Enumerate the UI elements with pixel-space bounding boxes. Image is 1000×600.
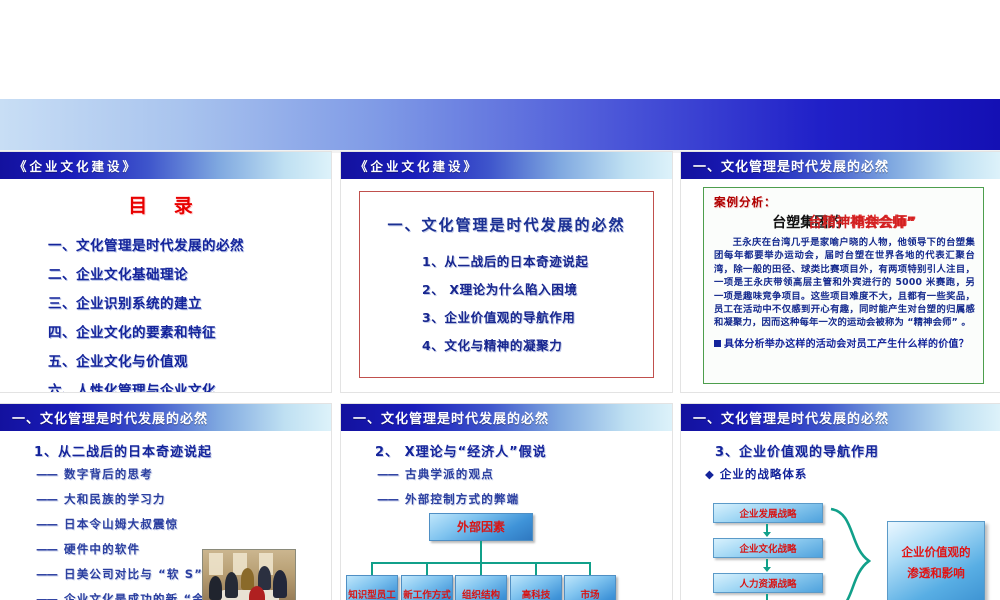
list-item: 一、文化管理是时代发展的必然 [48,234,331,254]
list-item: 4、文化与精神的凝聚力 [422,335,653,354]
slide-4-header-title: 一、文化管理是时代发展的必然 [0,408,208,427]
list-item: ——大和民族的学习力 [36,491,331,507]
slide-thumbnail-grid: 《企业文化建设》 目 录 一、文化管理是时代发展的必然 二、企业文化基础理论 三… [0,0,1000,600]
dash-prefix: —— [377,467,398,481]
list-item: 1、从二战后的日本奇迹说起 [422,251,653,270]
connector-vertical [480,541,482,563]
connector-branch [535,562,537,575]
dash-prefix: —— [377,492,398,506]
curly-brace-icon [829,507,871,600]
diagram-root-node: 外部因素 [429,513,533,541]
connector-branch [371,562,373,575]
dash-prefix: —— [36,567,57,581]
slide-5-body: 2、 X理论与“经济人”假说 ——古典学派的观点 ——外部控制方式的弊端 外部因… [341,431,672,600]
slide-3[interactable]: 一、文化管理是时代发展的必然 案例分析： 台塑集团的“精神会师” 台精神神会会师… [681,152,1000,392]
slide-1-header-title: 《企业文化建设》 [0,156,138,175]
section-title: 1、从二战后的日本奇迹说起 [34,441,331,460]
case-question-text: 具体分析举办这样的活动会对员工产生什么样的价值？ [724,339,969,350]
strategy-node: 企业文化战略 [713,538,823,558]
photo-person [273,570,287,598]
meeting-photo [202,549,296,600]
list-item: ——外部控制方式的弊端 [377,491,672,507]
list-item: ——古典学派的观点 [377,466,672,482]
slide-3-body: 案例分析： 台塑集团的“精神会师” 台精神神会会师” 王永庆在台湾几乎是家喻户晓… [681,179,1000,392]
list-item-label: 日本令山姆大叔震惊 [64,517,178,531]
strategy-system-diagram: 企业发展战略 企业文化战略 人力资源战略 企业管理战略 企业价值观的 渗透和影响 [681,503,1000,600]
photo-window [209,553,223,575]
section-title: 2、 X理论与“经济人”假说 [375,441,672,460]
dash-prefix: —— [36,517,57,531]
diagram-node: 高科技 [510,575,562,600]
list-item: ——数字背后的思考 [36,466,331,482]
slide-2-header-title: 《企业文化建设》 [341,156,479,175]
outcome-line-1: 企业价值观的 [902,544,971,560]
dash-prefix: —— [36,467,57,481]
photo-person [225,572,238,598]
dash-prefix: —— [36,542,57,556]
case-study-box: 案例分析： 台塑集团的“精神会师” 台精神神会会师” 王永庆在台湾几乎是家喻户晓… [703,187,984,384]
list-item: ——日本令山姆大叔震惊 [36,516,331,532]
strategy-node: 企业发展战略 [713,503,823,523]
arrow-down-icon [766,594,768,600]
list-item-label: 硬件中的软件 [64,542,140,556]
list-item-label: 古典学派的观点 [405,467,494,481]
value-outcome-box: 企业价值观的 渗透和影响 [887,521,985,600]
slide-6-header: 一、文化管理是时代发展的必然 [681,404,1000,431]
case-label: 案例分析： [714,194,975,210]
slide-1[interactable]: 《企业文化建设》 目 录 一、文化管理是时代发展的必然 二、企业文化基础理论 三… [0,152,331,392]
list-item-label: 数字背后的思考 [64,467,153,481]
diagram-node: 市场 [564,575,616,600]
top-gradient-banner [0,99,1000,150]
list-item-label: 大和民族的学习力 [64,492,166,506]
slide-4-body: 1、从二战后的日本奇迹说起 ——数字背后的思考 ——大和民族的学习力 ——日本令… [0,431,331,600]
subsection-list: 1、从二战后的日本奇迹说起 2、 X理论为什么陷入困境 3、企业价值观的导航作用… [422,251,653,354]
dash-prefix: —— [36,592,57,600]
list-item: 三、企业识别系统的建立 [48,292,331,312]
outcome-line-2: 渗透和影响 [907,565,965,581]
case-question: 具体分析举办这样的活动会对员工产生什么样的价值？ [714,335,975,350]
arrow-down-icon [766,559,768,568]
list-item: 五、企业文化与价值观 [48,350,331,370]
section-title: 3、企业价值观的导航作用 [715,441,1000,460]
photo-person [209,576,222,600]
slide-6-body: 3、企业价值观的导航作用 ◆ 企业的战略体系 企业发展战略 企业文化战略 人力资… [681,431,1000,600]
dash-prefix: —— [36,492,57,506]
list-item: 六、人性化管理与企业文化 [48,379,331,392]
case-headline: 台塑集团的“精神会师” 台精神神会会师” [714,212,975,232]
slide-2-body: 一、文化管理是时代发展的必然 1、从二战后的日本奇迹说起 2、 X理论为什么陷入… [341,179,672,392]
slide-1-header: 《企业文化建设》 [0,152,331,179]
slide-5[interactable]: 一、文化管理是时代发展的必然 2、 X理论与“经济人”假说 ——古典学派的观点 … [341,404,672,600]
slide-3-header: 一、文化管理是时代发展的必然 [681,152,1000,179]
case-paragraph: 王永庆在台湾几乎是家喻户晓的人物，他领导下的台塑集团每年都要举办运动会，届时台塑… [714,236,975,330]
catalog-list: 一、文化管理是时代发展的必然 二、企业文化基础理论 三、企业识别系统的建立 四、… [48,234,331,392]
slide-6-header-title: 一、文化管理是时代发展的必然 [681,408,889,427]
case-headline-overlap-artifact: 台精神神会会师” [808,212,915,232]
slide-3-header-title: 一、文化管理是时代发展的必然 [681,156,889,175]
list-item: 3、企业价值观的导航作用 [422,307,653,326]
section-title: 一、文化管理是时代发展的必然 [360,214,653,235]
slide-2-header: 《企业文化建设》 [341,152,672,179]
diagram-node: 知识型员工 [346,575,398,600]
slide-4-header: 一、文化管理是时代发展的必然 [0,404,331,431]
slide-4[interactable]: 一、文化管理是时代发展的必然 1、从二战后的日本奇迹说起 ——数字背后的思考 —… [0,404,331,600]
connector-branch [480,562,482,575]
slide-2[interactable]: 《企业文化建设》 一、文化管理是时代发展的必然 1、从二战后的日本奇迹说起 2、… [341,152,672,392]
list-item: 2、 X理论为什么陷入困境 [422,279,653,298]
slide-1-body: 目 录 一、文化管理是时代发展的必然 二、企业文化基础理论 三、企业识别系统的建… [0,179,331,392]
bullet-line: ◆ 企业的战略体系 [705,466,1000,482]
slide-5-header-title: 一、文化管理是时代发展的必然 [341,408,549,427]
top-blank-area [0,0,1000,98]
list-item-label: 外部控制方式的弊端 [405,492,519,506]
connector-branch [589,562,591,575]
slide-6[interactable]: 一、文化管理是时代发展的必然 3、企业价值观的导航作用 ◆ 企业的战略体系 企业… [681,404,1000,600]
external-factors-diagram: 外部因素 知识型员工 新工作方式 组织结构 高科技 市场 [341,513,672,600]
catalog-title: 目 录 [0,191,331,218]
diagram-node: 新工作方式 [401,575,453,600]
square-bullet-icon [714,340,721,347]
arrow-down-icon [766,524,768,533]
list-item: 四、企业文化的要素和特征 [48,321,331,341]
list-item-label: 日美公司对比与 “软 S” [64,567,203,581]
connector-branch [426,562,428,575]
strategy-node: 人力资源战略 [713,573,823,593]
slide-5-header: 一、文化管理是时代发展的必然 [341,404,672,431]
diagram-node: 组织结构 [455,575,507,600]
list-item: 二、企业文化基础理论 [48,263,331,283]
red-outlined-box: 一、文化管理是时代发展的必然 1、从二战后的日本奇迹说起 2、 X理论为什么陷入… [359,191,654,378]
